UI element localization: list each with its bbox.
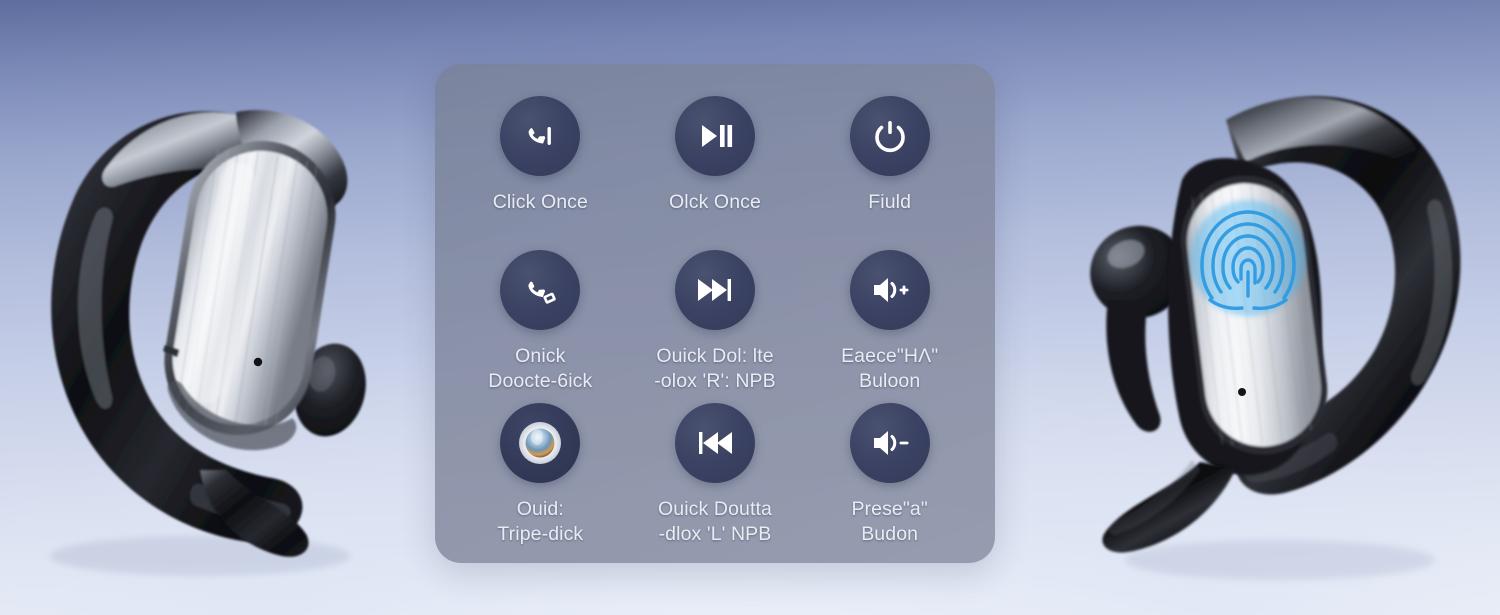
volume-up-icon <box>850 250 930 330</box>
power-icon <box>850 96 930 176</box>
control-item-label: Eaece"HΛ" Buloon <box>841 344 938 394</box>
control-item-previous-track[interactable]: Ouick Doutta -dlox 'L' NPB <box>628 395 803 547</box>
control-item-voice-assistant[interactable]: Ouid: Tripe-dick <box>453 395 628 547</box>
voice-assistant-icon <box>500 403 580 483</box>
next-track-icon <box>675 250 755 330</box>
control-item-label: Ouick Dol: lte -olox 'R': NPB <box>654 344 776 394</box>
control-item-label: Ouick Doutta -dlox 'L' NPB <box>658 497 772 547</box>
fingerprint-touch-indicator <box>1190 200 1306 316</box>
control-item-play-pause[interactable]: Olck Once <box>628 88 803 215</box>
control-item-label: Onick Doocte-6ick <box>488 344 592 394</box>
control-item-power-hold[interactable]: Fiuld <box>802 88 977 215</box>
phone-answer-icon <box>500 96 580 176</box>
control-item-label: Prese"a" Budon <box>851 497 927 547</box>
control-item-label: Click Once <box>493 190 588 215</box>
earbud-right-product-photo <box>1050 0 1500 615</box>
control-item-label: Ouid: Tripe-dick <box>497 497 583 547</box>
screenshot-root: Click Once Olck Once Fiuld <box>0 0 1500 615</box>
control-item-label: Fiuld <box>868 190 911 215</box>
control-item-volume-down[interactable]: Prese"a" Budon <box>802 395 977 547</box>
control-item-next-track[interactable]: Ouick Dol: lte -olox 'R': NPB <box>628 242 803 394</box>
earbud-left-product-photo <box>0 0 430 615</box>
control-item-answer-call[interactable]: Click Once <box>453 88 628 215</box>
control-item-volume-up[interactable]: Eaece"HΛ" Buloon <box>802 242 977 394</box>
volume-down-icon <box>850 403 930 483</box>
play-pause-icon <box>675 96 755 176</box>
earbud-control-gesture-panel: Click Once Olck Once Fiuld <box>435 64 995 563</box>
control-item-reject-call[interactable]: Onick Doocte-6ick <box>453 242 628 394</box>
previous-track-icon <box>675 403 755 483</box>
control-item-label: Olck Once <box>669 190 761 215</box>
phone-hangup-icon <box>500 250 580 330</box>
